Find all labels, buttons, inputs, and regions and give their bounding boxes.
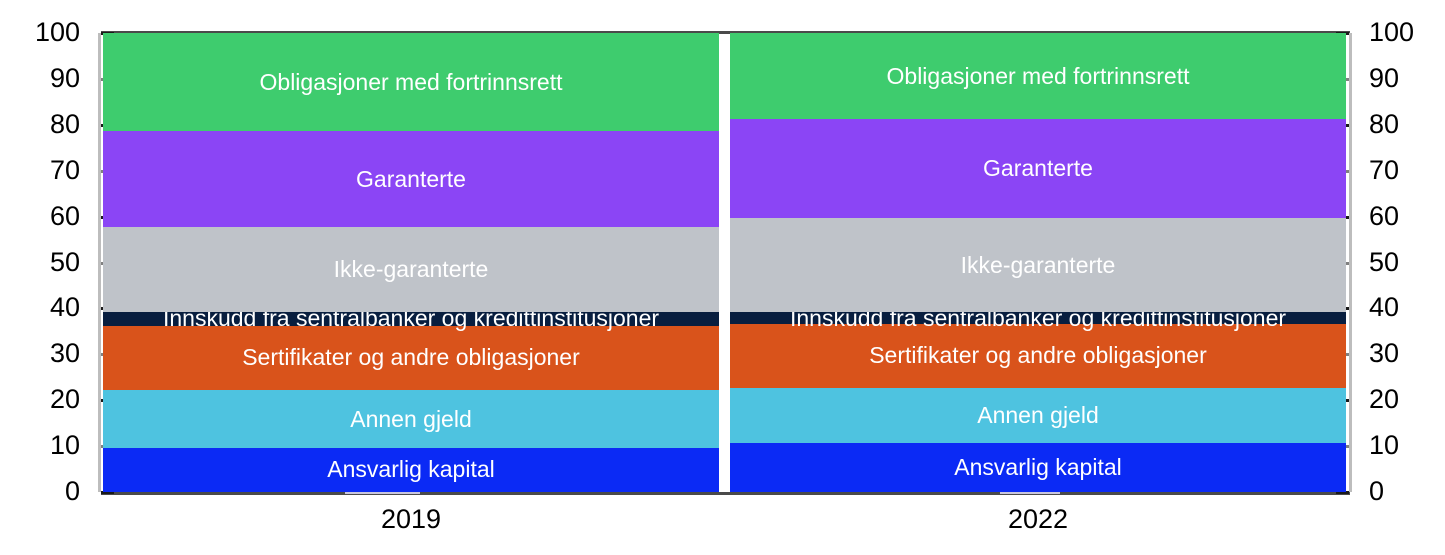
bar-segment-label: Annen gjeld bbox=[977, 404, 1099, 427]
bar-segment-2019-6[interactable]: Obligasjoner med fortrinnsrett bbox=[103, 33, 719, 131]
bar-segment-2022-4[interactable]: Ikke-garanterte bbox=[730, 218, 1346, 312]
bar-segment-label: Ikke-garanterte bbox=[334, 258, 489, 281]
x-axis-label-2019: 2019 bbox=[103, 505, 719, 535]
y-tick-label-left-0: 0 bbox=[0, 478, 80, 505]
y-tick-label-left-70: 70 bbox=[0, 157, 80, 184]
bar-segment-2022-1[interactable]: Annen gjeld bbox=[730, 388, 1346, 443]
stacked-bar-chart: 1009080706050403020100 10090807060504030… bbox=[0, 0, 1445, 555]
bar-segment-label: Garanterte bbox=[983, 157, 1093, 180]
bar-segment-label: Obligasjoner med fortrinnsrett bbox=[887, 65, 1190, 88]
bar-segment-2019-1[interactable]: Annen gjeld bbox=[103, 390, 719, 448]
y-tick-label-right-60: 60 bbox=[1369, 203, 1399, 230]
y-tick-label-left-20: 20 bbox=[0, 386, 80, 413]
bar-segment-label: Ikke-garanterte bbox=[961, 254, 1116, 277]
y-tick-label-left-10: 10 bbox=[0, 432, 80, 459]
bar-segment-2019-2[interactable]: Sertifikater og andre obligasjoner bbox=[103, 326, 719, 390]
y-tick-label-right-0: 0 bbox=[1369, 478, 1384, 505]
bar-segment-label: Annen gjeld bbox=[350, 408, 472, 431]
y-tick-label-left-40: 40 bbox=[0, 294, 80, 321]
y-tick-label-right-20: 20 bbox=[1369, 386, 1399, 413]
y-tick-label-right-90: 90 bbox=[1369, 65, 1399, 92]
bar-segment-label: Garanterte bbox=[356, 168, 466, 191]
x-axis-label-2022: 2022 bbox=[730, 505, 1346, 535]
bar-segment-label: Sertifikater og andre obligasjoner bbox=[869, 344, 1207, 367]
bar-segment-label: Sertifikater og andre obligasjoner bbox=[242, 346, 580, 369]
bar-segment-2019-0[interactable]: Ansvarlig kapital bbox=[103, 448, 719, 492]
bar-segment-2019-4[interactable]: Ikke-garanterte bbox=[103, 227, 719, 312]
bar-segment-2019-5[interactable]: Garanterte bbox=[103, 131, 719, 227]
y-tick-label-right-50: 50 bbox=[1369, 249, 1399, 276]
bar-segment-2022-0[interactable]: Ansvarlig kapital bbox=[730, 443, 1346, 492]
y-tick-label-left-60: 60 bbox=[0, 203, 80, 230]
y-tick-label-right-100: 100 bbox=[1369, 19, 1414, 46]
y-tick-label-left-50: 50 bbox=[0, 249, 80, 276]
y-tick-label-right-40: 40 bbox=[1369, 294, 1399, 321]
bar-segment-2022-6[interactable]: Obligasjoner med fortrinnsrett bbox=[730, 33, 1346, 119]
y-tick-label-right-70: 70 bbox=[1369, 157, 1399, 184]
plot-frame-bottom-border bbox=[101, 492, 1350, 495]
bar-segment-2022-5[interactable]: Garanterte bbox=[730, 119, 1346, 218]
bar-segment-2022-3[interactable]: Innskudd fra sentralbanker og kredittins… bbox=[730, 312, 1346, 324]
bar-segment-label: Ansvarlig kapital bbox=[954, 456, 1121, 479]
y-tick-label-right-10: 10 bbox=[1369, 432, 1399, 459]
y-tick-label-left-90: 90 bbox=[0, 65, 80, 92]
y-tick-label-left-30: 30 bbox=[0, 340, 80, 367]
bar-segment-label: Obligasjoner med fortrinnsrett bbox=[260, 71, 563, 94]
bar-segment-2022-2[interactable]: Sertifikater og andre obligasjoner bbox=[730, 324, 1346, 388]
bar-segment-2019-3[interactable]: Innskudd fra sentralbanker og kredittins… bbox=[103, 312, 719, 326]
y-tick-label-left-80: 80 bbox=[0, 111, 80, 138]
bar-segment-label: Ansvarlig kapital bbox=[327, 458, 494, 481]
y-tick-label-right-80: 80 bbox=[1369, 111, 1399, 138]
y-tick-label-left-100: 100 bbox=[0, 19, 80, 46]
y-tick-label-right-30: 30 bbox=[1369, 340, 1399, 367]
y-axis-right-spine bbox=[1349, 33, 1352, 492]
